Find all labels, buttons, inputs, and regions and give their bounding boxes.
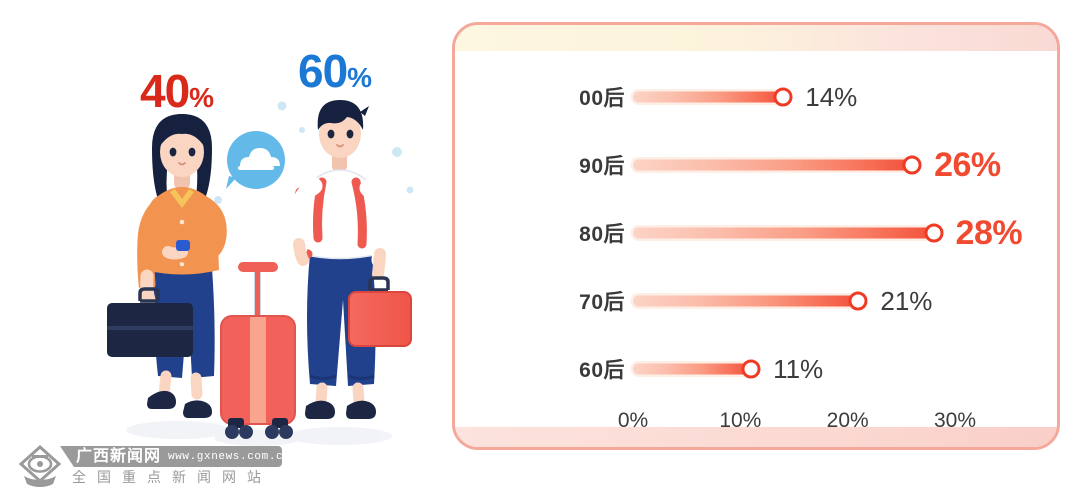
value-bar — [633, 364, 751, 375]
value-bar — [633, 296, 858, 307]
infographic-root: 40% 60% 00后14%90后26%80后28%70后21%60后11% 0… — [0, 0, 1081, 493]
bar-end-knob — [742, 360, 761, 379]
decorative-dot — [995, 292, 1014, 311]
male-traveler-illustration — [296, 100, 411, 419]
horizontal-bar-chart: 00后14%90后26%80后28%70后21%60后11% — [455, 65, 1057, 425]
card-top-band — [455, 25, 1057, 51]
chart-row: 80后28% — [455, 211, 1057, 255]
watermark: 广西新闻网 www.gxnews.com.cn 全国重点新闻网站 — [8, 443, 428, 491]
bar-track-area: 11% — [633, 347, 963, 391]
chart-row: 60后11% — [455, 347, 1057, 391]
female-traveler-illustration — [107, 114, 219, 418]
axis-tick-label: 30% — [934, 409, 976, 433]
chart-card: 00后14%90后26%80后28%70后21%60后11% 0%10%20%3… — [452, 22, 1060, 450]
axis-tick-label: 10% — [719, 409, 761, 433]
bar-track-area: 26% — [633, 143, 963, 187]
gxnews-emblem-logo — [18, 445, 62, 487]
category-label: 80后 — [551, 218, 625, 248]
cloud-weather-bubble-icon — [226, 131, 285, 189]
chart-row: 90后26% — [455, 143, 1057, 187]
female-percentage-symbol: % — [189, 82, 213, 113]
bar-end-knob — [903, 156, 922, 175]
axis-tick-label: 20% — [827, 409, 869, 433]
male-percentage-callout: 60% — [298, 48, 371, 94]
value-label: 14% — [805, 84, 857, 110]
decorative-dot — [1049, 360, 1060, 378]
decorative-dot — [977, 359, 998, 380]
male-percentage-symbol: % — [347, 62, 371, 93]
category-label: 90后 — [551, 150, 625, 180]
bar-end-knob — [774, 88, 793, 107]
bar-end-knob — [849, 292, 868, 311]
watermark-site-name: 广西新闻网 — [76, 446, 161, 467]
female-percentage-callout: 40% — [140, 68, 213, 114]
chart-x-axis: 0%10%20%30% — [633, 409, 993, 439]
bar-track-area: 28% — [633, 211, 963, 255]
value-label: 11% — [773, 356, 823, 382]
value-bar — [633, 160, 912, 171]
female-percentage-number: 40 — [140, 65, 189, 117]
decorative-dot — [985, 88, 1004, 107]
decorative-dot — [903, 361, 920, 378]
value-label: 28% — [956, 216, 1023, 250]
bar-track-area: 14% — [633, 75, 963, 119]
male-percentage-number: 60 — [298, 45, 347, 97]
axis-tick-label: 0% — [618, 409, 648, 433]
value-bar — [633, 228, 934, 239]
decorative-dot — [895, 88, 914, 107]
travelers-illustration — [0, 0, 440, 450]
value-label: 26% — [934, 148, 1001, 182]
category-label: 60后 — [551, 354, 625, 384]
rolling-suitcase-illustration — [221, 262, 295, 439]
watermark-url: www.gxnews.com.cn — [168, 447, 290, 467]
category-label: 00后 — [551, 82, 625, 112]
illustration-panel: 40% 60% — [0, 0, 440, 450]
value-bar — [633, 92, 783, 103]
chart-row: 00后14% — [455, 75, 1057, 119]
watermark-tagline: 全国重点新闻网站 — [72, 468, 272, 486]
bar-end-knob — [924, 224, 943, 243]
chart-row: 70后21% — [455, 279, 1057, 323]
decorative-dot — [829, 360, 847, 378]
bar-track-area: 21% — [633, 279, 963, 323]
value-label: 21% — [880, 288, 932, 314]
category-label: 70后 — [551, 286, 625, 316]
